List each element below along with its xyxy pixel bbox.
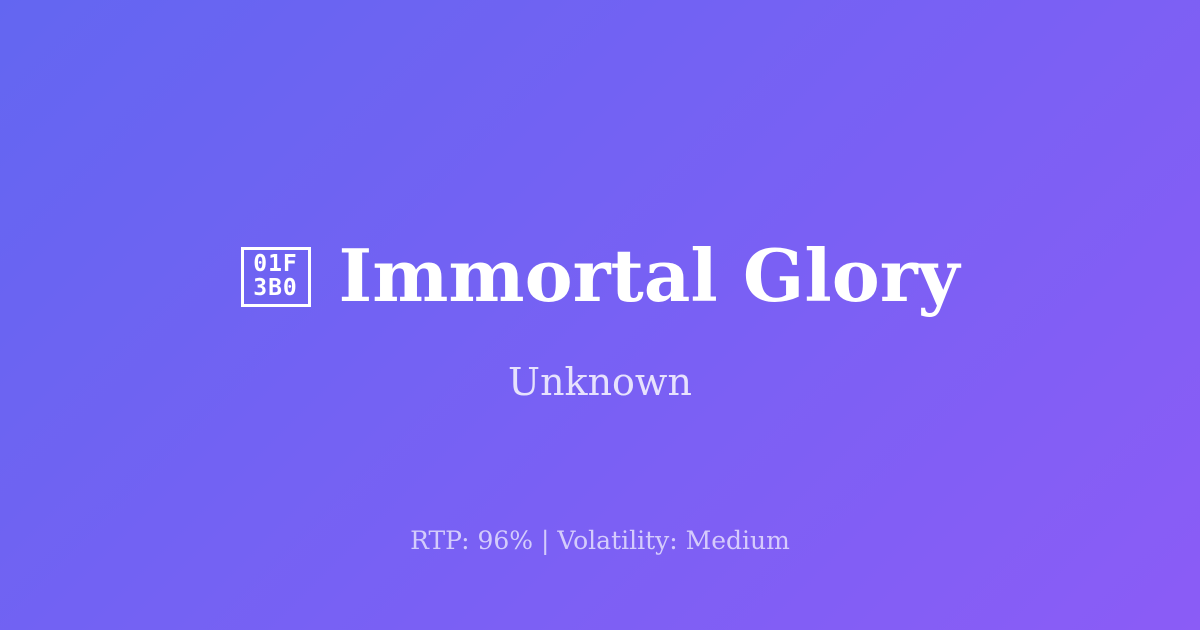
page-title: Immortal Glory	[339, 240, 960, 312]
page-subtitle: Unknown	[0, 360, 1200, 406]
tofu-codepoint-bottom: 3B0	[253, 277, 298, 301]
title-row: 01F 3B0 Immortal Glory	[0, 232, 1200, 320]
og-share-card: 01F 3B0 Immortal Glory Unknown RTP: 96% …	[0, 0, 1200, 630]
game-meta-footer: RTP: 96% | Volatility: Medium	[0, 526, 1200, 556]
tofu-codepoint-top: 01F	[253, 253, 298, 277]
slot-machine-icon: 01F 3B0	[241, 247, 311, 307]
